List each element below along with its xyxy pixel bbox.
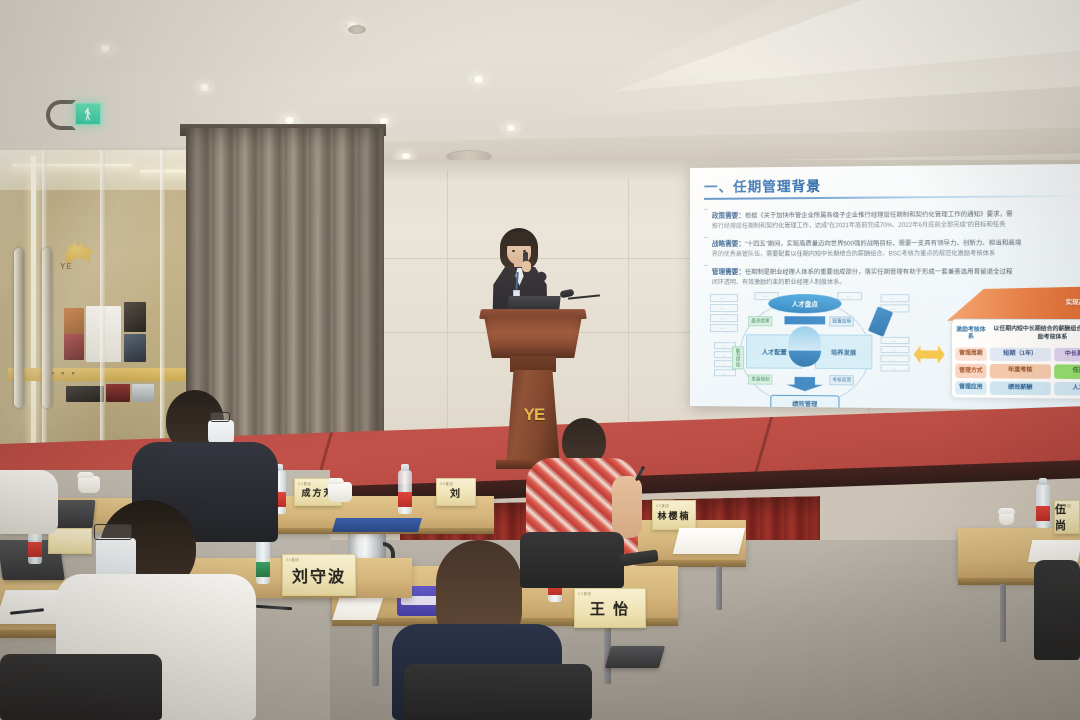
bullet-lead: 管理需要：	[712, 269, 745, 276]
diagram-side-box: ．．	[714, 369, 736, 376]
cycle-center-bottom	[789, 351, 822, 367]
bullet-dash-icon: –	[704, 204, 708, 230]
pot-lid	[327, 478, 344, 484]
running-man-icon	[85, 108, 92, 121]
placard-name: 王 怡	[590, 598, 630, 619]
bottle-cap	[1039, 478, 1047, 485]
wall-panel-seam	[628, 178, 629, 448]
slide-bullets: – 政策需要：根据《关于加快市管企业所属各级子企业推行经理层任期制和契约化管理工…	[704, 202, 1080, 287]
downlight	[505, 125, 517, 131]
exit-sign	[75, 103, 101, 125]
name-placard: XX集团 林樱楠	[652, 500, 696, 530]
bullet-sub: 闭环透明、有效激励约束的职业经理人制度体系。	[712, 279, 1080, 287]
bullet-text: 任期制是职业经理人体系的重要组成部分，落实任期管理有助于形成一套兼善选用育留退全…	[745, 268, 1013, 275]
projection-screen[interactable]: 一、任期管理背景 – 政策需要：根据《关于加快市管企业所属各级子企业推行经理层任…	[690, 164, 1080, 410]
document	[1028, 540, 1080, 562]
bullet-sub: 推行经理层任期制和契约化管理工作，达成“在2021年底前完成70%、2022年6…	[712, 220, 1080, 230]
tea-pot[interactable]	[328, 482, 352, 502]
door-mullion	[100, 150, 105, 480]
slide-title: 一、任期管理背景	[704, 172, 1080, 196]
row-cell: 人才发展	[1054, 382, 1080, 396]
vertical-light	[31, 156, 36, 474]
diagram-side-box: ．．	[881, 337, 910, 344]
name-placard: XX集团 刘守波	[282, 554, 356, 596]
exhibit-photo	[124, 334, 146, 362]
strip-light	[12, 164, 132, 169]
row-header: 管理方式	[955, 364, 986, 378]
bullet-item: – 管理需要：任期制是职业经理人体系的重要组成部分，落实任期管理有助于形成一套兼…	[704, 260, 1080, 287]
microphone-stand	[560, 288, 600, 304]
bottle-cap	[401, 464, 409, 471]
laptop[interactable]	[605, 646, 665, 668]
row-cell: 年度考核	[990, 364, 1051, 378]
diagram-side-box: ．．．	[881, 294, 910, 302]
exhibit-shelf	[66, 386, 104, 402]
row-cell: 绩效薪酬	[990, 381, 1051, 395]
name-placard: XX集团 刘	[436, 478, 476, 506]
cup-lid	[77, 472, 94, 478]
brand-deer-logo-icon	[62, 238, 96, 264]
talent-cycle-diagram: ．．． ．．． ．．． ．．． ．． ．． ．．． ．．． ．． ．． ．． ．…	[710, 290, 909, 410]
door-handle[interactable]	[14, 248, 24, 408]
diagram-side-box: ．．．	[710, 324, 738, 332]
chair-back[interactable]	[1034, 560, 1080, 660]
cycle-chip	[868, 306, 893, 337]
ac-vent-icon	[348, 25, 366, 34]
table-leg	[372, 624, 379, 686]
presenter-eye	[512, 250, 515, 252]
exhibit-photo	[124, 302, 146, 332]
downlight	[400, 153, 412, 159]
folder[interactable]	[332, 518, 422, 532]
row-header: 管理周期	[955, 347, 986, 361]
placard-name: 刘守波	[292, 563, 346, 587]
slide-title-rule	[704, 195, 1080, 199]
diagram-side-box: ．．．	[710, 314, 738, 322]
bullet-dash-icon: –	[704, 233, 708, 259]
row-cell: 短期（1年）	[990, 347, 1051, 361]
cup-lid	[998, 508, 1015, 514]
attendee-arm	[0, 470, 58, 534]
bullet-lead: 政策需要：	[712, 212, 745, 219]
presenter-hand	[522, 261, 531, 272]
chair-back[interactable]	[0, 654, 162, 720]
cycle-node-right: 培养发展	[815, 335, 872, 370]
placard-header: XX集团	[286, 557, 299, 562]
bullet-sub: 界的优秀高管队伍，需要配套以任期内短中长期结合的薪酬组合、BSC考核为重点的规范…	[712, 249, 1080, 258]
water-bottle[interactable]	[398, 470, 412, 514]
door-handle[interactable]	[42, 248, 52, 408]
placard-header: XX集团	[656, 503, 669, 508]
banner-line-2: 实现高质量发展	[1066, 299, 1080, 308]
cycle-arrow-top	[784, 316, 825, 324]
chair-back[interactable]	[520, 532, 624, 588]
diagram-side-box: ．．	[881, 355, 910, 362]
cycle-center-top	[789, 326, 822, 350]
cycle-tag: 发展规划	[748, 375, 773, 385]
placard-header: XX集团	[1058, 503, 1071, 508]
name-placard: XX集团 王 怡	[574, 588, 646, 628]
bullet-text: 根据《关于加快市管企业所属各级子企业推行经理层任期制和契约化管理工作的通知》要求…	[745, 210, 1013, 219]
wall-panel-seam	[447, 170, 448, 448]
placard-header: XX集团	[298, 481, 311, 486]
presenter-fringe	[503, 232, 535, 246]
podium-laptop[interactable]	[507, 296, 560, 310]
bullet-dash-icon: –	[704, 261, 708, 287]
downlight	[98, 45, 112, 52]
diagram-side-box: ．．．	[710, 294, 738, 302]
band-text: ▼ ▼ ▼	[50, 371, 78, 377]
presentation-slide: 一、任期管理背景 – 政策需要：根据《关于加快市管企业所属各级子企业推行经理层任…	[690, 164, 1080, 410]
attendee	[0, 470, 62, 540]
incentive-table: 激励考核体系 以任期内短中长期结合的薪酬组合、规范化激励考核体系 管理周期 短期…	[951, 319, 1080, 400]
downlight	[198, 84, 211, 91]
bullet-text: “十四五”期间，实现高质量迈向世界500强的战略目标，需要一支具有领导力、创新力…	[745, 239, 1021, 247]
cycle-center-figure	[789, 326, 822, 377]
banner-line-1: 战略目标	[1066, 290, 1080, 299]
water-bottle[interactable]	[1036, 484, 1050, 528]
cycle-tag: 能力评估	[732, 346, 744, 369]
bottle-label	[1036, 506, 1050, 521]
bottle-label	[28, 542, 42, 557]
eyeglasses	[210, 412, 230, 422]
diagram-side-box: ．．	[881, 364, 910, 371]
bullet-item: – 政策需要：根据《关于加快市管企业所属各级子企业推行经理层任期制和契约化管理工…	[704, 202, 1080, 231]
document	[332, 596, 384, 620]
row-cell: 以任期内短中长期结合的薪酬组合、规范化激励考核体系	[990, 323, 1080, 345]
bottle-label	[398, 492, 412, 507]
document	[673, 528, 745, 554]
diagram-side-box: ．．	[881, 346, 910, 353]
podium-neck	[510, 356, 556, 372]
bullet-item: – 战略需要：“十四五”期间，实现高质量迈向世界500强的战略目标，需要一支具有…	[704, 231, 1080, 259]
connector-arrow-icon	[914, 345, 945, 364]
chair-back[interactable]	[404, 664, 592, 720]
table-row: 管理方式 年度考核 任期考核	[955, 364, 1080, 379]
table-row: 管理周期 短期（1年） 中长期（3年）	[955, 347, 1080, 362]
row-cell: 任期考核	[1054, 365, 1080, 379]
slide-diagram-area: ．．． ．．． ．．． ．．． ．． ．． ．．． ．．． ．． ．． ．． ．…	[704, 290, 1080, 410]
eyeglasses	[94, 524, 132, 540]
diagram-side-box: ．．	[837, 292, 862, 300]
exhibit-shelf	[106, 384, 130, 402]
row-header: 管理应用	[955, 381, 986, 395]
placard-name: 林樱楠	[657, 509, 690, 522]
cycle-tag: 考核反馈	[829, 375, 854, 385]
downlight	[283, 117, 296, 124]
placard-header: XX集团	[440, 481, 453, 486]
placard-header: XX集团	[578, 591, 591, 596]
cycle-tag: 盘点结果	[748, 316, 773, 326]
table-leg	[1000, 584, 1006, 642]
row-cell: 中长期（3年）	[1054, 348, 1080, 362]
sign-bracket	[46, 100, 76, 130]
strategy-banner: 战略目标 实现高质量发展	[947, 286, 1080, 321]
row-header: 激励考核体系	[955, 323, 986, 344]
downlight	[472, 76, 485, 83]
podium-body	[484, 316, 582, 358]
conference-room-photo: YE ▼ ▼ ▼ 一、任期管理背景 –	[0, 0, 1080, 720]
attendee-arm	[612, 476, 642, 538]
cycle-tag: 配置应用	[829, 316, 854, 326]
water-bottle[interactable]	[256, 540, 270, 584]
placard-name: 刘	[450, 485, 462, 500]
bullet-lead: 战略需要：	[712, 240, 745, 247]
table-row: 激励考核体系 以任期内短中长期结合的薪酬组合、规范化激励考核体系	[955, 323, 1080, 345]
diagram-side-box: ．．．	[710, 304, 738, 312]
bottle-label	[256, 562, 270, 577]
exhibit-photo	[64, 334, 84, 360]
tea-cup[interactable]	[999, 512, 1014, 525]
cycle-node-top: 人才盘点	[768, 294, 841, 313]
table-row: 管理应用 绩效薪酬 人才发展	[955, 381, 1080, 396]
name-placard: XX集团 伍尚	[1054, 500, 1080, 534]
brand-logo-text: YE	[60, 262, 73, 271]
banner-text: 战略目标 实现高质量发展	[1066, 290, 1080, 307]
tea-cup[interactable]	[78, 476, 100, 493]
table-leg	[716, 566, 722, 610]
